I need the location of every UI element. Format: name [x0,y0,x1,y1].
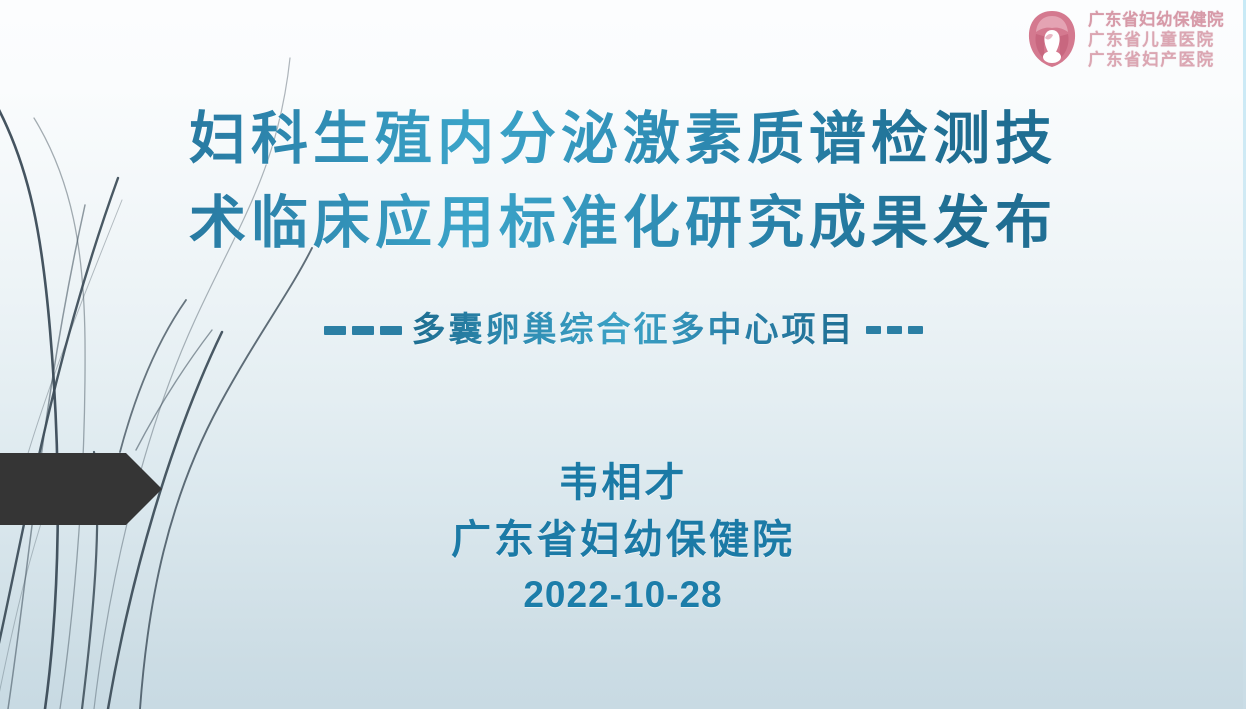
dash-mark [380,326,402,335]
subtitle-trailing-dashes [866,326,923,334]
logo-line-3: 广东省妇产医院 [1088,50,1224,69]
presentation-date: 2022-10-28 [0,569,1246,621]
subtitle-text: 多囊卵巢综合征多中心项目 [406,307,862,353]
presenter-block: 韦相才 广东省妇幼保健院 2022-10-28 [0,455,1246,621]
hospital-logo-text: 广东省妇幼保健院 广东省儿童医院 广东省妇产医院 [1088,10,1224,69]
hospital-rose-emblem-icon [1023,8,1081,70]
title-line-2: 术临床应用标准化研究成果发布 [0,181,1246,265]
subtitle-inner: 多囊卵巢综合征多中心项目 [324,307,923,353]
title-slide: 广东省妇幼保健院 广东省儿童医院 广东省妇产医院 妇科生殖内分泌激素质谱检测技 … [0,0,1246,709]
subtitle-leading-dashes [324,326,402,335]
dash-mark [887,326,902,334]
dash-mark [866,326,881,334]
slide-title: 妇科生殖内分泌激素质谱检测技 术临床应用标准化研究成果发布 [0,97,1246,265]
logo-line-1: 广东省妇幼保健院 [1088,10,1224,29]
hospital-logo: 广东省妇幼保健院 广东省儿童医院 广东省妇产医院 [1023,8,1224,70]
dash-mark [352,326,374,335]
slide-subtitle: 多囊卵巢综合征多中心项目 [0,307,1246,353]
logo-line-2: 广东省儿童医院 [1088,30,1224,49]
presenter-name: 韦相才 [0,455,1246,511]
dash-mark [324,326,346,335]
dash-mark [908,326,923,334]
presenter-organization: 广东省妇幼保健院 [0,511,1246,569]
title-line-1: 妇科生殖内分泌激素质谱检测技 [0,97,1246,181]
